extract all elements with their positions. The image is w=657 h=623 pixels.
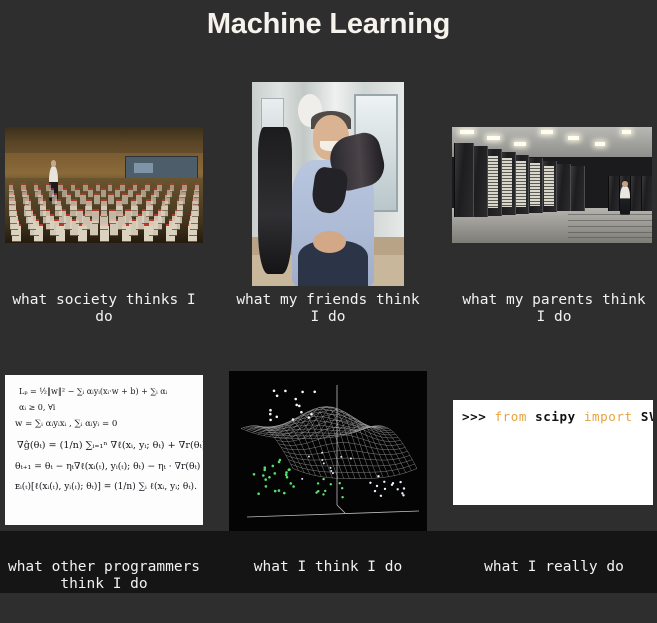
hall-seat bbox=[46, 183, 51, 191]
data-point bbox=[340, 456, 342, 458]
data-point bbox=[285, 471, 288, 474]
hall-seat bbox=[133, 183, 138, 191]
hall-seat bbox=[170, 183, 175, 191]
floor-tile-line bbox=[568, 226, 652, 227]
server-rack bbox=[570, 166, 585, 210]
rack-front-panel bbox=[530, 163, 540, 206]
hall-seat bbox=[9, 183, 14, 191]
server-room-technician bbox=[620, 186, 630, 215]
hall-seat bbox=[120, 183, 125, 191]
data-point bbox=[308, 456, 310, 458]
equation-w-solution: w = ∑ᵢ αᵢyᵢxᵢ , ∑ᵢ αᵢyᵢ = 0 bbox=[15, 420, 195, 429]
data-point bbox=[301, 391, 304, 394]
photo-man-with-robot-arm bbox=[252, 82, 404, 286]
data-point bbox=[339, 482, 341, 484]
server-rack bbox=[454, 143, 474, 217]
caption-other-programmers: what other programmers think I do bbox=[2, 559, 206, 593]
data-point bbox=[374, 490, 376, 492]
data-point bbox=[330, 467, 332, 469]
data-point bbox=[392, 482, 394, 484]
data-point bbox=[341, 487, 343, 489]
data-point bbox=[292, 485, 295, 488]
data-point bbox=[278, 489, 281, 492]
meme-image: Machine Learning what society thinks I d… bbox=[0, 0, 657, 623]
equation-lagrangian: Lₚ = ½‖w‖² − ∑ᵢ αᵢyᵢ(xᵢ·w + b) + ∑ᵢ αᵢ bbox=[19, 388, 195, 396]
data-point bbox=[257, 492, 260, 495]
data-point bbox=[324, 490, 326, 492]
equation-expectation: ᴇᵢ(ₜ)[ℓ(xᵢ(ₜ), yᵢ(ₜ); θₜ)] = (1/n) ∑ᵢ ℓ(… bbox=[15, 483, 195, 492]
meme-title-bar: Machine Learning bbox=[0, 0, 657, 48]
data-point bbox=[321, 459, 323, 461]
equation-gradient: ∇ĝ(θₜ) = (1/n) ∑ᵢ₌₁ⁿ ∇ℓ(xᵢ, yᵢ; θₜ) + ∇r… bbox=[17, 441, 195, 451]
hall-seat bbox=[58, 183, 63, 191]
data-point bbox=[298, 405, 301, 408]
data-point bbox=[384, 488, 386, 490]
data-point bbox=[284, 390, 287, 393]
server-rack-far bbox=[641, 176, 652, 211]
hall-seat bbox=[195, 183, 200, 191]
keyword-from: from bbox=[495, 409, 528, 424]
hall-seat-rows bbox=[5, 162, 203, 243]
data-point bbox=[272, 465, 275, 468]
floor-tile-line bbox=[568, 214, 652, 215]
data-point bbox=[300, 411, 303, 414]
data-point bbox=[265, 485, 268, 488]
floor-tile-line bbox=[568, 232, 652, 233]
code-line-import: >>> from scipy import SVM bbox=[453, 409, 653, 424]
module-name-scipy: scipy bbox=[527, 409, 584, 424]
floor-tile-line bbox=[568, 237, 652, 238]
data-point bbox=[283, 492, 286, 495]
hall-seat bbox=[108, 183, 113, 191]
code-repl-panel: >>> from scipy import SVM bbox=[453, 400, 653, 505]
data-point bbox=[377, 475, 379, 477]
keyword-import: import bbox=[584, 409, 633, 424]
hall-seat bbox=[21, 183, 26, 191]
data-point bbox=[278, 461, 281, 464]
data-point bbox=[383, 481, 385, 483]
data-point bbox=[376, 485, 378, 487]
footer-strip bbox=[0, 599, 657, 623]
data-point bbox=[322, 478, 324, 480]
data-point bbox=[308, 416, 311, 419]
equation-alpha-constraint: αᵢ ≥ 0, ∀i bbox=[19, 404, 195, 412]
caption-friends: what my friends think I do bbox=[226, 292, 430, 326]
symbol-name-svm: SVM bbox=[633, 409, 653, 424]
data-point bbox=[317, 490, 319, 492]
data-point bbox=[269, 419, 272, 422]
data-point bbox=[290, 482, 293, 485]
data-point bbox=[273, 390, 276, 393]
repl-prompt: >>> bbox=[462, 409, 495, 424]
scatter-manifold-plot bbox=[229, 371, 427, 531]
manifold-surface-svg bbox=[229, 371, 427, 531]
rack-front-panel bbox=[544, 166, 554, 206]
hall-seat bbox=[145, 183, 150, 191]
robot-arm-left bbox=[258, 127, 291, 274]
math-equations-panel: Lₚ = ½‖w‖² − ∑ᵢ αᵢyᵢ(xᵢ·w + b) + ∑ᵢ αᵢ α… bbox=[5, 375, 203, 525]
data-point bbox=[274, 472, 277, 475]
data-point bbox=[269, 409, 272, 412]
ceiling-light bbox=[568, 136, 579, 140]
ceiling-light bbox=[541, 130, 553, 134]
data-point bbox=[292, 418, 295, 421]
server-rack bbox=[541, 161, 557, 213]
rack-front-panel bbox=[515, 161, 525, 207]
rack-front-panel bbox=[486, 156, 497, 208]
data-point bbox=[330, 483, 332, 485]
data-point bbox=[321, 452, 323, 454]
data-point bbox=[301, 478, 303, 480]
photo-lecture-hall bbox=[5, 127, 203, 243]
data-point bbox=[264, 466, 267, 469]
floor-tile-line bbox=[568, 220, 652, 221]
ceiling-light bbox=[460, 130, 474, 134]
caption-society: what society thinks I do bbox=[2, 292, 206, 326]
hall-seat bbox=[83, 183, 88, 191]
hall-seat-row bbox=[5, 183, 203, 191]
data-point bbox=[294, 398, 297, 401]
caption-i-think: what I think I do bbox=[226, 559, 430, 576]
data-point bbox=[313, 391, 316, 394]
ceiling-light bbox=[514, 142, 526, 146]
ceiling-light bbox=[622, 130, 631, 134]
data-point bbox=[264, 478, 267, 481]
data-point bbox=[332, 472, 334, 474]
data-point bbox=[286, 476, 289, 479]
data-point bbox=[276, 395, 279, 398]
photo-server-room bbox=[452, 127, 652, 243]
data-point bbox=[288, 469, 291, 472]
server-rack bbox=[556, 164, 571, 212]
data-point bbox=[276, 416, 279, 419]
data-point bbox=[253, 473, 256, 476]
data-point bbox=[274, 490, 277, 493]
hall-seat bbox=[157, 183, 162, 191]
ceiling-light bbox=[595, 142, 605, 146]
data-point bbox=[262, 474, 265, 477]
data-point bbox=[397, 488, 399, 490]
page-title: Machine Learning bbox=[207, 10, 450, 39]
ceiling-light bbox=[487, 136, 500, 140]
data-point bbox=[322, 493, 324, 495]
rack-front-panel bbox=[501, 158, 512, 207]
hall-seat bbox=[71, 183, 76, 191]
hall-seat bbox=[34, 183, 39, 191]
caption-parents: what my parents think I do bbox=[452, 292, 656, 326]
data-point bbox=[350, 458, 352, 460]
hall-seat bbox=[182, 183, 187, 191]
data-point bbox=[317, 482, 319, 484]
hall-seat bbox=[96, 183, 101, 191]
data-point bbox=[401, 492, 403, 494]
data-point bbox=[399, 481, 401, 483]
data-point bbox=[323, 462, 325, 464]
data-point bbox=[295, 404, 298, 407]
data-point bbox=[341, 496, 343, 498]
equation-sgd-update: θₜ₊₁ = θₜ − ηₜ∇ℓ(xᵢ(ₜ), yᵢ(ₜ); θₜ) − ηₜ … bbox=[15, 462, 195, 471]
data-point bbox=[403, 487, 405, 489]
data-point bbox=[268, 476, 271, 479]
data-point bbox=[369, 482, 371, 484]
data-point bbox=[285, 473, 288, 476]
data-point bbox=[310, 413, 313, 416]
data-point bbox=[380, 495, 382, 497]
data-point bbox=[269, 413, 272, 416]
data-point bbox=[330, 470, 332, 472]
caption-i-really-do: what I really do bbox=[452, 559, 656, 576]
